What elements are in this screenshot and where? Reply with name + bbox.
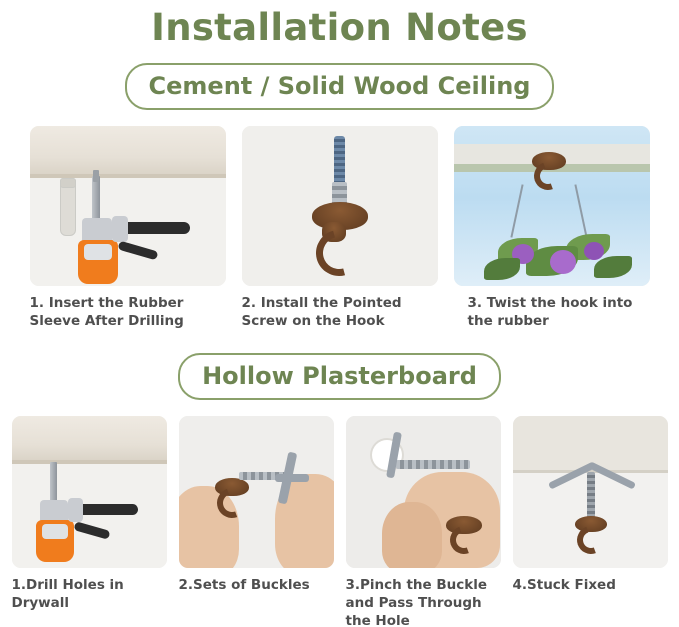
- section-2-heading-wrap: Hollow Plasterboard: [0, 353, 679, 400]
- step-item: 1. Insert the Rubber Sleeve After Drilli…: [30, 126, 226, 331]
- section-1-steps-row: 1. Insert the Rubber Sleeve After Drilli…: [0, 126, 679, 331]
- step-item: 4.Stuck Fixed: [513, 416, 668, 627]
- drill-into-ceiling-with-rubber-sleeve-image: [30, 126, 226, 286]
- drill-holes-in-drywall-image: [12, 416, 167, 568]
- step-item: 2. Install the Pointed Screw on the Hook: [242, 126, 438, 331]
- toggle-anchor-stuck-fixed-behind-plasterboard-image: [513, 416, 668, 568]
- section-1-heading-wrap: Cement / Solid Wood Ceiling: [0, 63, 679, 110]
- step-caption: 1.Drill Holes in Drywall: [12, 577, 167, 613]
- section-heading-hollow-plasterboard: Hollow Plasterboard: [178, 353, 501, 400]
- page-title: Installation Notes: [0, 6, 679, 49]
- step-caption: 3.Pinch the Buckle and Pass Through the …: [346, 577, 501, 627]
- step-caption: 3. Twist the hook into the rubber: [454, 295, 650, 331]
- section-heading-cement-solid-wood-ceiling: Cement / Solid Wood Ceiling: [125, 63, 555, 110]
- installation-notes-page: Installation Notes Cement / Solid Wood C…: [0, 0, 679, 627]
- step-caption: 4.Stuck Fixed: [513, 577, 668, 595]
- hook-mounted-on-ceiling-with-hanging-flower-basket-image: [454, 126, 650, 286]
- section-2-steps-row: 1.Drill Holes in Drywall 2.Sets of Buckl…: [0, 416, 679, 627]
- step-item: 3. Twist the hook into the rubber: [454, 126, 650, 331]
- pointed-screw-installed-on-bronze-hook-image: [242, 126, 438, 286]
- step-caption: 2.Sets of Buckles: [179, 577, 334, 595]
- hand-pinching-toggle-buckle-into-hole-image: [346, 416, 501, 568]
- hand-holding-hook-and-toggle-buckle-set-image: [179, 416, 334, 568]
- step-item: 2.Sets of Buckles: [179, 416, 334, 627]
- step-item: 3.Pinch the Buckle and Pass Through the …: [346, 416, 501, 627]
- step-item: 1.Drill Holes in Drywall: [12, 416, 167, 627]
- step-caption: 1. Insert the Rubber Sleeve After Drilli…: [30, 295, 226, 331]
- step-caption: 2. Install the Pointed Screw on the Hook: [242, 295, 438, 331]
